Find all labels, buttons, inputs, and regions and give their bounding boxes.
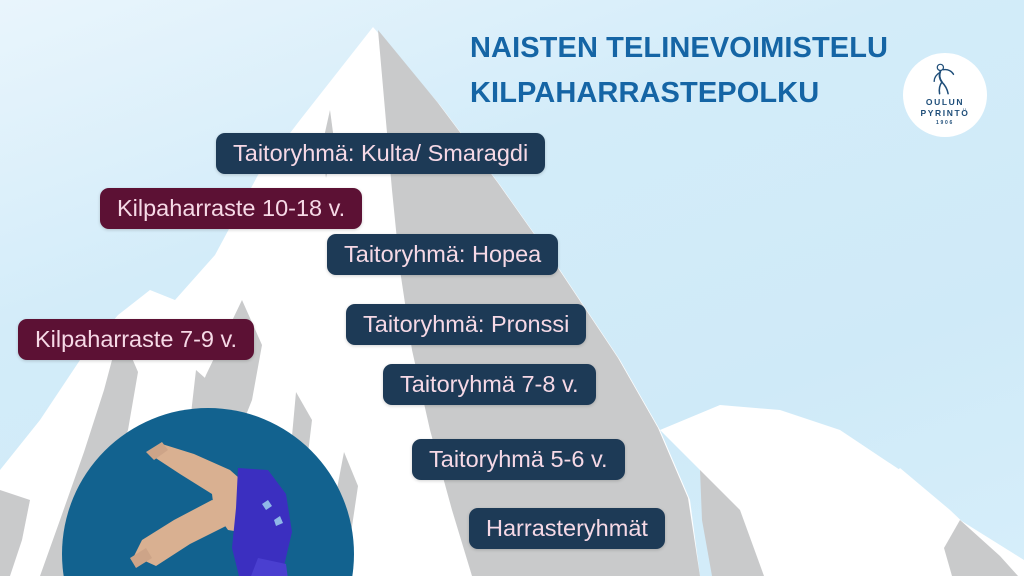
pathway-step-label[interactable]: Taitoryhmä: Hopea [327,234,558,275]
pathway-step-label[interactable]: Taitoryhmä: Kulta/ Smaragdi [216,133,545,174]
discus-thrower-icon [928,62,962,96]
page-title-line-2: KILPAHARRASTEPOLKU [470,71,910,116]
pathway-step-label[interactable]: Kilpaharraste 7-9 v. [18,319,254,360]
pathway-step-label[interactable]: Harrasteryhmät [469,508,665,549]
gymnast-backbend-photo [62,408,354,576]
page-title-line-1: NAISTEN TELINEVOIMISTELU [470,26,910,71]
logo-name-line-1: OULUN [926,97,964,107]
infographic-canvas: NAISTEN TELINEVOIMISTELU KILPAHARRASTEPO… [0,0,1024,576]
logo-name-line-2: PYRINTÖ [921,108,970,118]
pathway-step-label[interactable]: Taitoryhmä: Pronssi [346,304,586,345]
pathway-step-label[interactable]: Taitoryhmä 5-6 v. [412,439,625,480]
oulun-pyrinto-logo: OULUN PYRINTÖ 1906 [903,53,987,137]
logo-year: 1906 [936,120,954,126]
pathway-step-label[interactable]: Taitoryhmä 7-8 v. [383,364,596,405]
page-title: NAISTEN TELINEVOIMISTELU KILPAHARRASTEPO… [470,26,910,116]
gymnast-photo-circle [62,408,354,576]
pathway-step-label[interactable]: Kilpaharraste 10-18 v. [100,188,362,229]
